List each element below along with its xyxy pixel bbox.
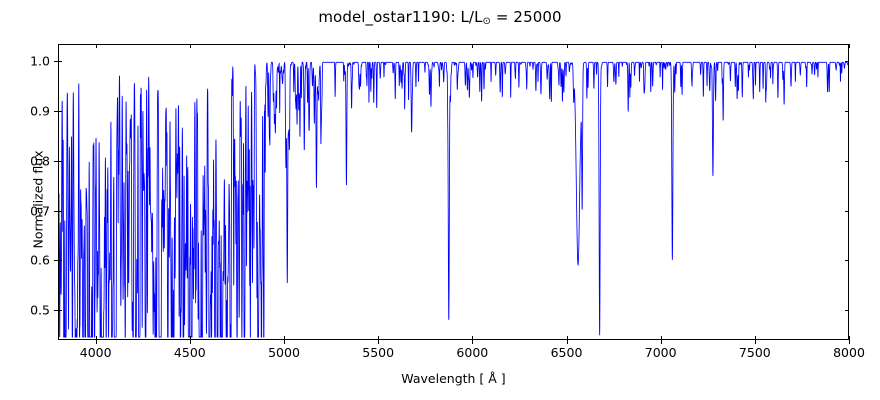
x-tick-mark bbox=[567, 340, 568, 344]
x-tick-mark bbox=[849, 44, 850, 48]
y-axis-label: Normalized flux bbox=[31, 90, 46, 310]
page-title: model_ostar1190: L/L⊙ = 25000 bbox=[0, 8, 880, 27]
x-tick-mark bbox=[849, 336, 850, 340]
x-tick-mark bbox=[96, 340, 97, 344]
x-tick-label: 8000 bbox=[814, 345, 880, 360]
x-axis-label: Wavelength [ Å ] bbox=[58, 371, 849, 386]
x-tick-label: 5500 bbox=[343, 345, 413, 360]
x-tick-mark bbox=[472, 340, 473, 344]
x-tick-mark bbox=[284, 340, 285, 344]
x-tick-mark bbox=[755, 340, 756, 344]
x-tick-label: 4500 bbox=[155, 345, 225, 360]
x-tick-mark bbox=[378, 340, 379, 344]
x-tick-label: 6500 bbox=[532, 345, 602, 360]
x-tick-label: 6000 bbox=[437, 345, 507, 360]
y-tick-label: 1.0 bbox=[2, 54, 50, 69]
x-tick-mark bbox=[661, 340, 662, 344]
x-tick-mark bbox=[190, 340, 191, 344]
x-tick-label: 7000 bbox=[626, 345, 696, 360]
title-tail-text: = 25000 bbox=[491, 8, 562, 26]
title-solar-subscript: ⊙ bbox=[483, 16, 491, 27]
spectrum-path bbox=[59, 62, 848, 337]
x-tick-label: 7500 bbox=[720, 345, 790, 360]
x-tick-label: 4000 bbox=[61, 345, 131, 360]
spectrum-line-series bbox=[59, 45, 848, 339]
x-tick-mark bbox=[849, 340, 850, 344]
title-main-text: model_ostar1190: L/L bbox=[318, 8, 482, 26]
spectrum-figure: model_ostar1190: L/L⊙ = 25000 0.50.60.70… bbox=[0, 0, 880, 400]
plot-axes bbox=[58, 44, 849, 340]
x-tick-label: 5000 bbox=[249, 345, 319, 360]
